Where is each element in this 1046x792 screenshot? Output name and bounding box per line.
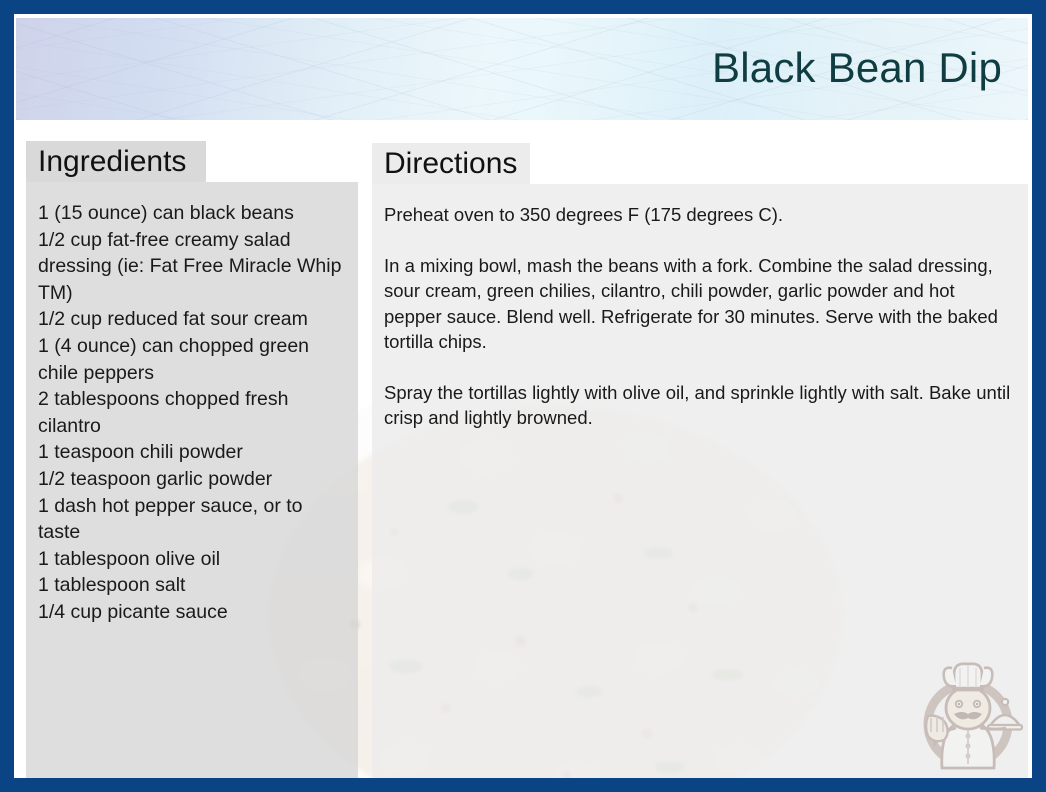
- list-item: 1/4 cup picante sauce: [38, 599, 344, 626]
- list-item: 2 tablespoons chopped fresh cilantro: [38, 386, 344, 439]
- list-item: 1 teaspoon chili powder: [38, 439, 344, 466]
- list-item: 1 (15 ounce) can black beans: [38, 200, 344, 227]
- list-item: 1 tablespoon olive oil: [38, 546, 344, 573]
- direction-step: In a mixing bowl, mash the beans with a …: [384, 253, 1014, 355]
- list-item: 1/2 cup reduced fat sour cream: [38, 306, 344, 333]
- directions-tab[interactable]: Directions: [372, 143, 530, 184]
- list-item: 1/2 teaspoon garlic powder: [38, 466, 344, 493]
- list-item: 1/2 cup fat-free creamy salad dressing (…: [38, 227, 344, 307]
- direction-step: Spray the tortillas lightly with olive o…: [384, 380, 1014, 431]
- list-item: 1 tablespoon salt: [38, 572, 344, 599]
- ingredients-tab[interactable]: Ingredients: [26, 141, 206, 182]
- directions-heading: Directions: [384, 149, 517, 179]
- ingredients-heading: Ingredients: [38, 147, 186, 177]
- recipe-card: Black Bean Dip Ingredients 1 (15 ounce) …: [0, 0, 1046, 792]
- content-panels: Ingredients 1 (15 ounce) can black beans…: [14, 14, 1032, 778]
- list-item: 1 (4 ounce) can chopped green chile pepp…: [38, 333, 344, 386]
- direction-step: Preheat oven to 350 degrees F (175 degre…: [384, 202, 1014, 228]
- page-surface: Black Bean Dip Ingredients 1 (15 ounce) …: [14, 14, 1032, 778]
- ingredients-panel: 1 (15 ounce) can black beans 1/2 cup fat…: [26, 182, 358, 778]
- list-item: 1 dash hot pepper sauce, or to taste: [38, 493, 344, 546]
- directions-panel: Preheat oven to 350 degrees F (175 degre…: [372, 184, 1028, 778]
